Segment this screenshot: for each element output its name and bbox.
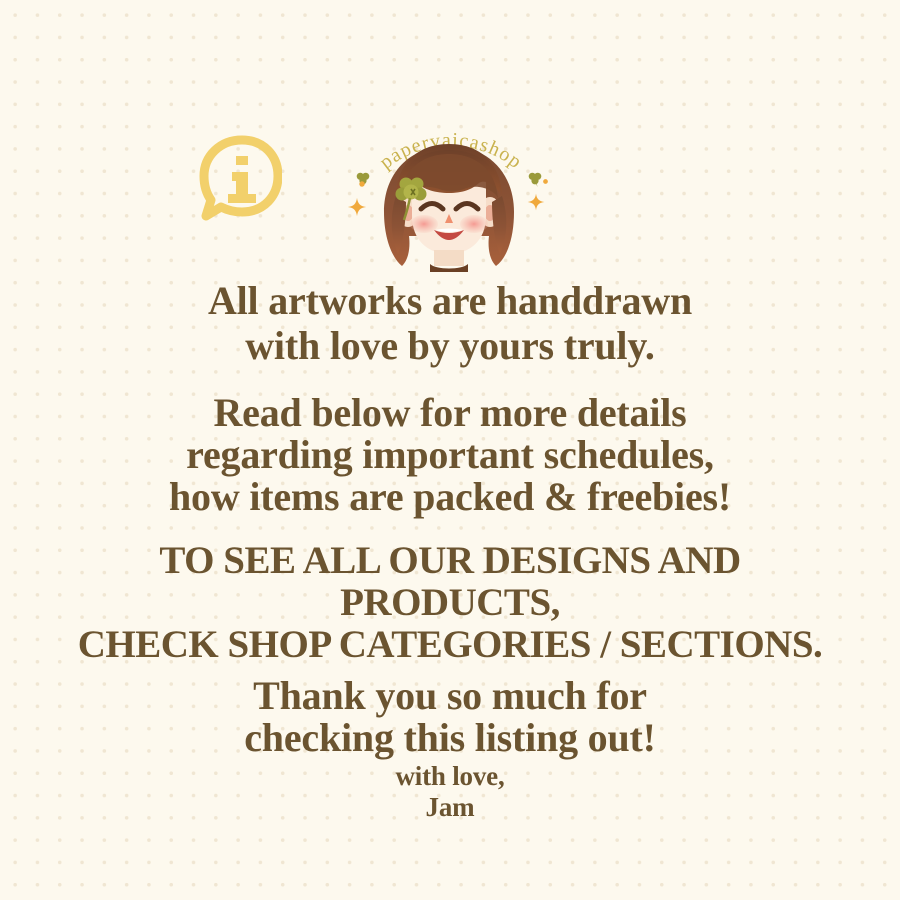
paragraph-thanks: Thank you so much for checking this list…: [0, 675, 900, 759]
info-icon[interactable]: [198, 134, 282, 224]
paragraph-read-more: Read below for more details regarding im…: [0, 392, 900, 518]
callout-line-3: CHECK SHOP CATEGORIES / SECTIONS.: [0, 624, 900, 666]
paragraph-intro: All artworks are handdrawn with love by …: [0, 278, 900, 368]
message-content: All artworks are handdrawn with love by …: [0, 278, 900, 823]
read-line-1: Read below for more details: [0, 392, 900, 434]
avatar: [362, 140, 537, 272]
signoff-line-1: with love,: [0, 761, 900, 792]
callout-line-2: PRODUCTS,: [0, 582, 900, 624]
signoff-name: Jam: [0, 792, 900, 823]
avatar-neck: [434, 250, 464, 266]
read-line-2: regarding important schedules,: [0, 434, 900, 476]
avatar-cheek-left: [410, 215, 438, 233]
brand-block: papervaicashop: [350, 118, 550, 273]
info-card: papervaicashop: [0, 0, 900, 900]
info-stem: [228, 172, 256, 203]
sparkle-dot-right: [542, 178, 549, 185]
info-dot: [236, 156, 248, 165]
paragraph-signoff: with love, Jam: [0, 761, 900, 823]
paragraph-callout: TO SEE ALL OUR DESIGNS AND PRODUCTS, CHE…: [0, 540, 900, 666]
avatar-cheek-right: [460, 215, 488, 233]
thanks-line-1: Thank you so much for: [0, 675, 900, 717]
read-line-3: how items are packed & freebies!: [0, 476, 900, 518]
intro-line-2: with love by yours truly.: [0, 323, 900, 368]
intro-line-1: All artworks are handdrawn: [0, 278, 900, 323]
thanks-line-2: checking this listing out!: [0, 717, 900, 759]
callout-line-1: TO SEE ALL OUR DESIGNS AND: [0, 540, 900, 582]
shop-header: papervaicashop: [0, 118, 900, 278]
